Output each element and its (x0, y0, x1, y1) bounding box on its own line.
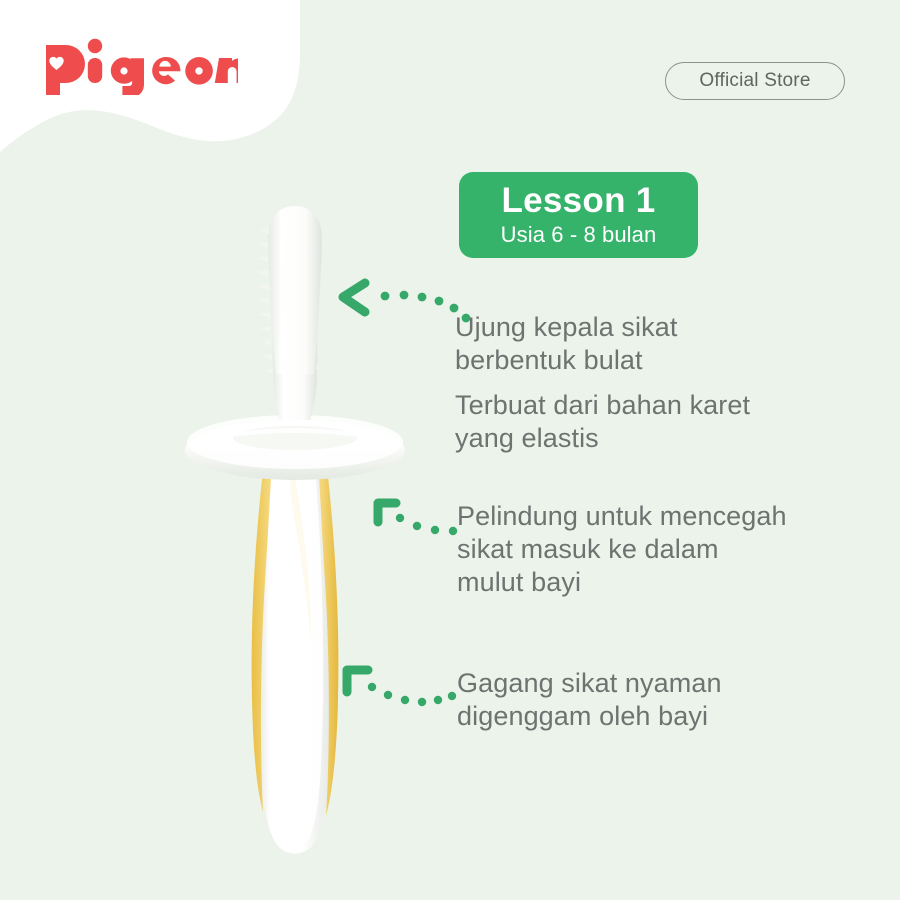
chevron-left-dotted-arrow (343, 283, 470, 322)
annotation-line: mulut bayi (457, 566, 857, 599)
lesson-badge: Lesson 1 Usia 6 - 8 bulan (459, 172, 698, 258)
annotation-line: digenggam oleh bayi (457, 700, 857, 733)
official-store-badge[interactable]: Official Store (665, 62, 845, 100)
lesson-subtitle: Usia 6 - 8 bulan (459, 221, 698, 248)
baby-training-toothbrush-image (150, 190, 440, 890)
annotation-handle-grip: Gagang sikat nyaman digenggam oleh bayi (457, 667, 857, 733)
annotation-line: sikat masuk ke dalam (457, 533, 857, 566)
annotation-line: Gagang sikat nyaman (457, 667, 857, 700)
promo-banner: Official Store Lesson 1 Usia 6 - 8 bulan (0, 0, 900, 900)
elbow-corner-dotted-arrow-handle (347, 670, 456, 706)
annotation-brush-head-material: Terbuat dari bahan karet yang elastis (455, 389, 855, 455)
annotation-line: Ujung kepala sikat (455, 311, 855, 344)
annotation-safety-shield: Pelindung untuk mencegah sikat masuk ke … (457, 500, 857, 599)
annotation-line: Terbuat dari bahan karet (455, 389, 855, 422)
lesson-title: Lesson 1 (459, 181, 698, 221)
annotation-line: Pelindung untuk mencegah (457, 500, 857, 533)
annotation-line: berbentuk bulat (455, 344, 855, 377)
pigeon-heart-logo (38, 33, 238, 95)
elbow-corner-dotted-arrow-shield (378, 503, 457, 535)
annotation-line: yang elastis (455, 422, 855, 455)
logo-backdrop-blob (0, 0, 300, 200)
annotation-brush-head-shape: Ujung kepala sikat berbentuk bulat (455, 311, 855, 377)
